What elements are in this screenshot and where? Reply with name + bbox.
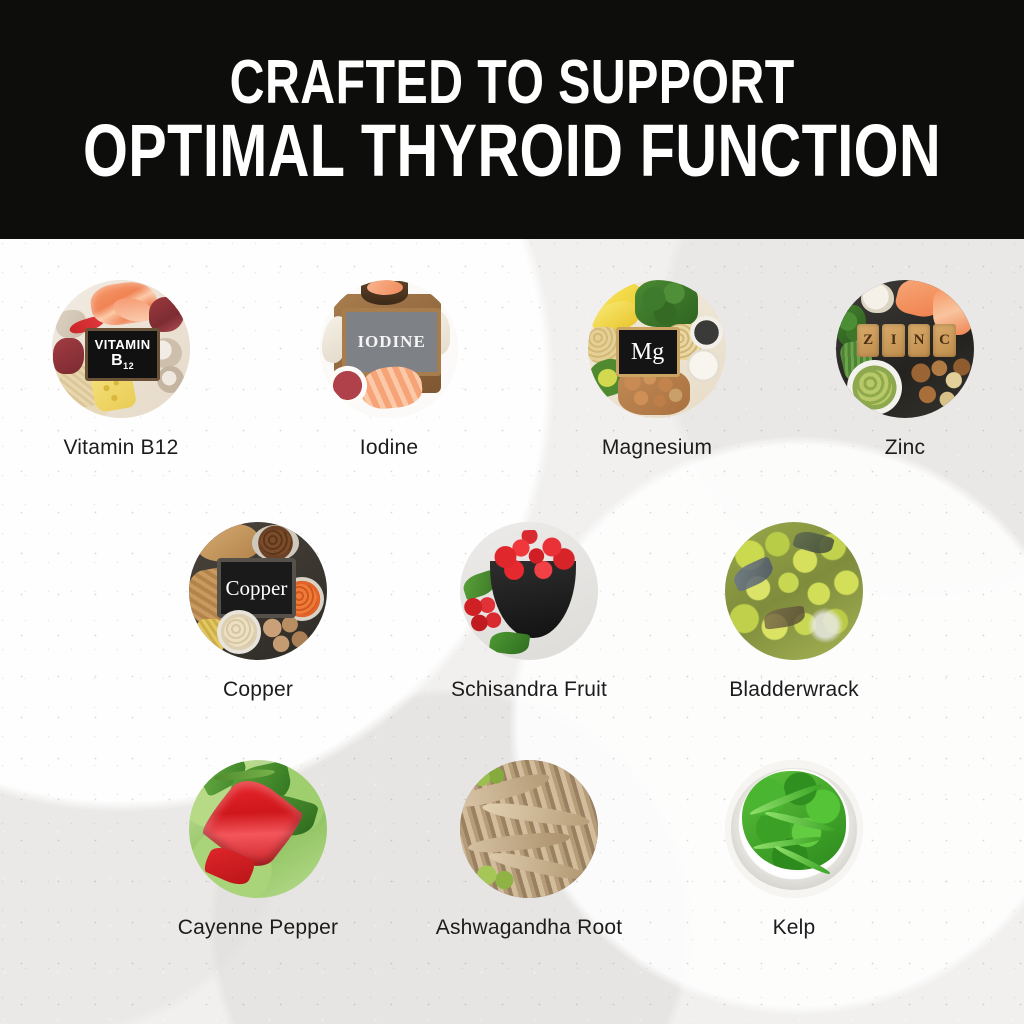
- zinc-tile-letter: Z: [857, 324, 879, 357]
- ashwagandha-root-icon: [460, 760, 598, 898]
- kelp-icon: [725, 760, 863, 898]
- vitamin-b12-chalkboard: VITAMIN B12: [85, 328, 160, 381]
- cayenne-pepper-icon: [189, 760, 327, 898]
- ingredient-kelp[interactable]: Kelp: [725, 760, 863, 898]
- ingredient-label-magnesium: Magnesium: [602, 436, 712, 460]
- zinc-icon: Z I N C: [836, 280, 974, 418]
- ingredient-label-vitamin-b12: Vitamin B12: [63, 436, 178, 460]
- chalkboard-text-main: VITAMIN: [95, 338, 151, 351]
- ingredient-label-copper: Copper: [223, 678, 293, 702]
- ingredient-magnesium[interactable]: Mg Magnesium: [588, 280, 726, 418]
- ingredient-label-ashwagandha-root: Ashwagandha Root: [436, 916, 623, 940]
- chalkboard-text-sub: B12: [111, 353, 134, 371]
- bladderwrack-icon: [725, 522, 863, 660]
- magnesium-icon: Mg: [588, 280, 726, 418]
- header-line-1: Crafted To Support: [230, 54, 795, 111]
- magnesium-chalkboard: Mg: [616, 327, 680, 377]
- zinc-tile-letter: C: [933, 324, 955, 357]
- ingredient-label-schisandra-fruit: Schisandra Fruit: [451, 678, 607, 702]
- zinc-letter-tiles: Z I N C: [855, 324, 957, 357]
- infographic-page: Crafted To Support Optimal Thyroid Funct…: [0, 0, 1024, 1024]
- ingredient-bladderwrack[interactable]: Bladderwrack: [725, 522, 863, 660]
- ingredient-zinc[interactable]: Z I N C Zinc: [836, 280, 974, 418]
- zinc-tile-letter: N: [908, 324, 930, 357]
- vitamin-b12-icon: VITAMIN B12: [52, 280, 190, 418]
- ingredient-copper[interactable]: Copper Copper: [189, 522, 327, 660]
- copper-chalkboard: Copper: [217, 558, 297, 618]
- ingredient-cayenne-pepper[interactable]: Cayenne Pepper: [189, 760, 327, 898]
- ingredient-label-bladderwrack: Bladderwrack: [729, 678, 859, 702]
- copper-icon: Copper: [189, 522, 327, 660]
- ingredient-ashwagandha-root[interactable]: Ashwagandha Root: [460, 760, 598, 898]
- ingredient-label-cayenne-pepper: Cayenne Pepper: [178, 916, 338, 940]
- ingredient-label-kelp: Kelp: [773, 916, 816, 940]
- header-line-2: Optimal Thyroid Function: [83, 117, 941, 185]
- ingredient-label-iodine: Iodine: [360, 436, 418, 460]
- zinc-tile-letter: I: [882, 324, 904, 357]
- ingredient-vitamin-b12[interactable]: VITAMIN B12 Vitamin B12: [52, 280, 190, 418]
- header-banner: Crafted To Support Optimal Thyroid Funct…: [0, 0, 1024, 239]
- ingredient-schisandra-fruit[interactable]: Schisandra Fruit: [460, 522, 598, 660]
- schisandra-fruit-icon: [460, 522, 598, 660]
- ingredient-iodine[interactable]: IODINE Iodine: [320, 280, 458, 418]
- iodine-icon: IODINE: [320, 280, 458, 418]
- ingredient-label-zinc: Zinc: [885, 436, 925, 460]
